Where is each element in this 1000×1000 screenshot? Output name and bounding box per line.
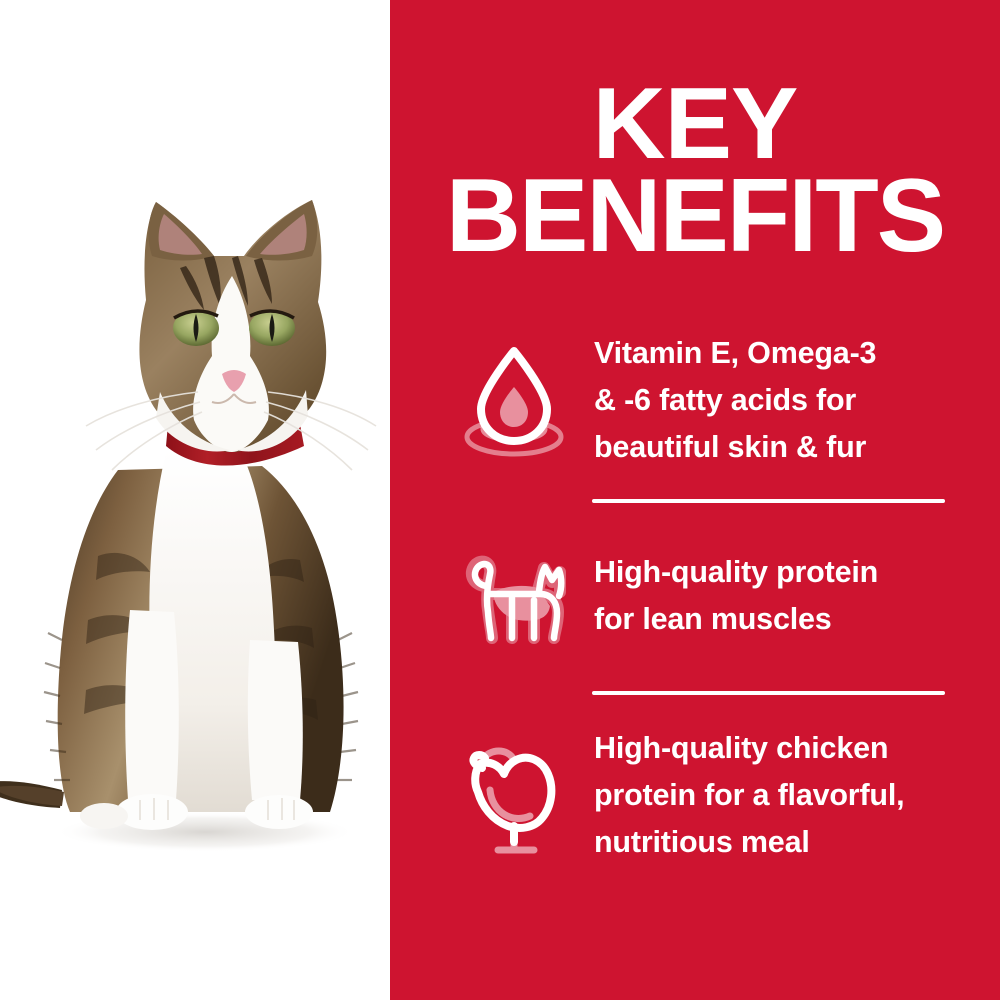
cat-photo [0, 0, 390, 1000]
key-benefits-graphic: KEY BENEFITS Vitamin E, Omega-3 & -6 fat… [0, 0, 1000, 1000]
cat-front-leg-right [248, 640, 303, 800]
benefits-panel: KEY BENEFITS Vitamin E, Omega-3 & -6 fat… [390, 0, 1000, 1000]
benefits-list: Vitamin E, Omega-3 & -6 fatty acids for … [390, 330, 1000, 866]
chicken-icon [460, 734, 568, 858]
benefit-text-skin-fur: Vitamin E, Omega-3 & -6 fatty acids for … [568, 330, 876, 471]
title-line-2: BENEFITS [390, 170, 1000, 262]
benefit-text-chicken-protein: High-quality chicken protein for a flavo… [568, 725, 904, 866]
benefit-item-chicken-protein: High-quality chicken protein for a flavo… [390, 725, 1000, 866]
page-title: KEY BENEFITS [390, 78, 1000, 262]
benefit-text-lean-muscles: High-quality protein for lean muscles [568, 549, 878, 643]
cat-paw-right [245, 795, 313, 829]
benefit-item-lean-muscles: High-quality protein for lean muscles [390, 531, 1000, 661]
photo-panel [0, 0, 390, 1000]
cat-silhouette-icon [460, 546, 568, 646]
cat-front-leg-left [125, 610, 179, 800]
benefit-item-skin-fur: Vitamin E, Omega-3 & -6 fatty acids for … [390, 330, 1000, 471]
water-droplet-icon [460, 341, 568, 461]
